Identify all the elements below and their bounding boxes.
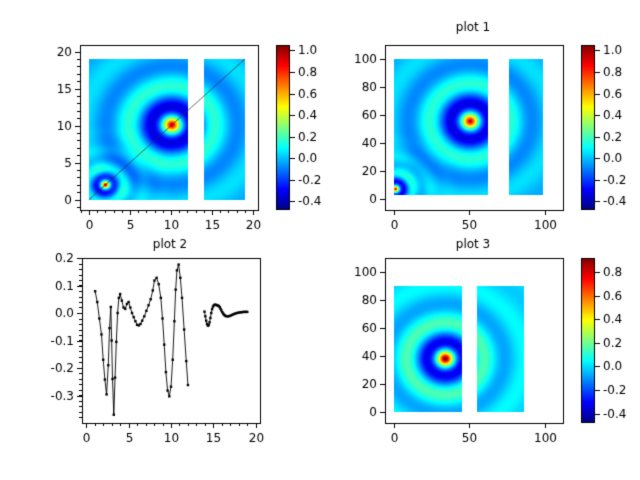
figure-canvas-container (0, 0, 640, 480)
figure-render-canvas (0, 0, 640, 480)
